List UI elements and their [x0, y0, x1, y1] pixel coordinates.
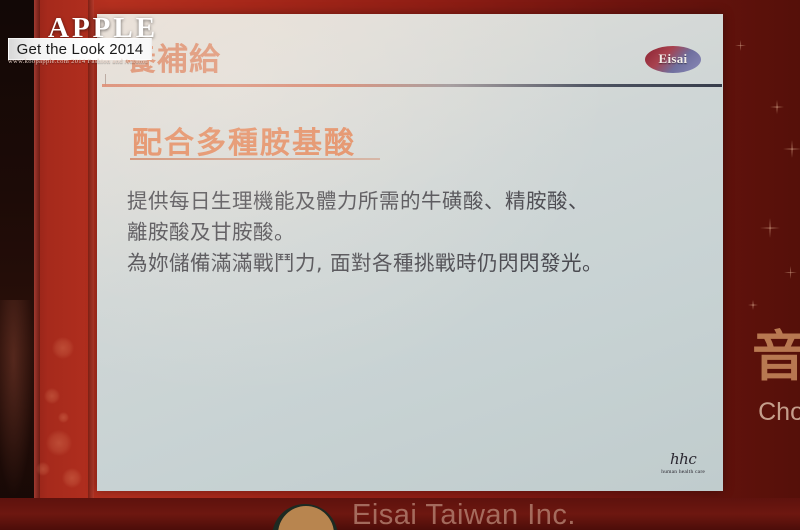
stage-banner-company: Eisai Taiwan Inc.	[352, 499, 576, 530]
slide-title: 配合多種胺基酸	[132, 118, 356, 162]
slide-title-underline	[130, 158, 380, 160]
eisai-logo-icon: Eisai	[645, 46, 701, 73]
backdrop-panel-seam-left	[34, 0, 40, 498]
hhc-footer-mark: hhc human health care	[661, 452, 705, 475]
stage-bottom-banner: Eisai Taiwan Inc.	[0, 498, 800, 530]
watermark-tagline-bar: Get the Look 2014	[8, 38, 152, 60]
backdrop-audience-silhouette	[0, 300, 34, 498]
slide-header: 養補給 Eisai	[97, 14, 723, 80]
slide-header-divider	[102, 84, 722, 87]
hhc-subtitle-text: human health care	[661, 469, 705, 475]
eisai-logo-wordmark: Eisai	[645, 51, 701, 67]
watermark-url: www.koopapple.com 2014 Fashion and Autum…	[8, 58, 148, 65]
slide-body-line: 離胺酸及甘胺酸。	[127, 217, 697, 248]
hhc-script-text: hhc	[661, 452, 705, 467]
backdrop-poster-cjk: 音	[752, 330, 800, 384]
screenshot-root: 音 Cho 養補給 Eisai 配合多種胺基酸 提供每日生理機能及體力所需的牛磺…	[0, 0, 800, 530]
backdrop-panel-seam-right	[88, 0, 94, 498]
slide-body: 提供每日生理機能及體力所需的牛磺酸、精胺酸、 離胺酸及甘胺酸。 為妳儲備滿滿戰鬥…	[127, 186, 697, 279]
slide-body-line: 提供每日生理機能及體力所需的牛磺酸、精胺酸、	[127, 186, 697, 217]
slide-body-line: 為妳儲備滿滿戰鬥力, 面對各種挑戰時仍閃閃發光。	[127, 248, 697, 279]
projected-slide: 養補給 Eisai 配合多種胺基酸 提供每日生理機能及體力所需的牛磺酸、精胺酸、…	[97, 14, 723, 491]
watermark-tagline: Get the Look 2014	[9, 41, 151, 58]
backdrop-poster-latin: Cho	[758, 398, 800, 427]
